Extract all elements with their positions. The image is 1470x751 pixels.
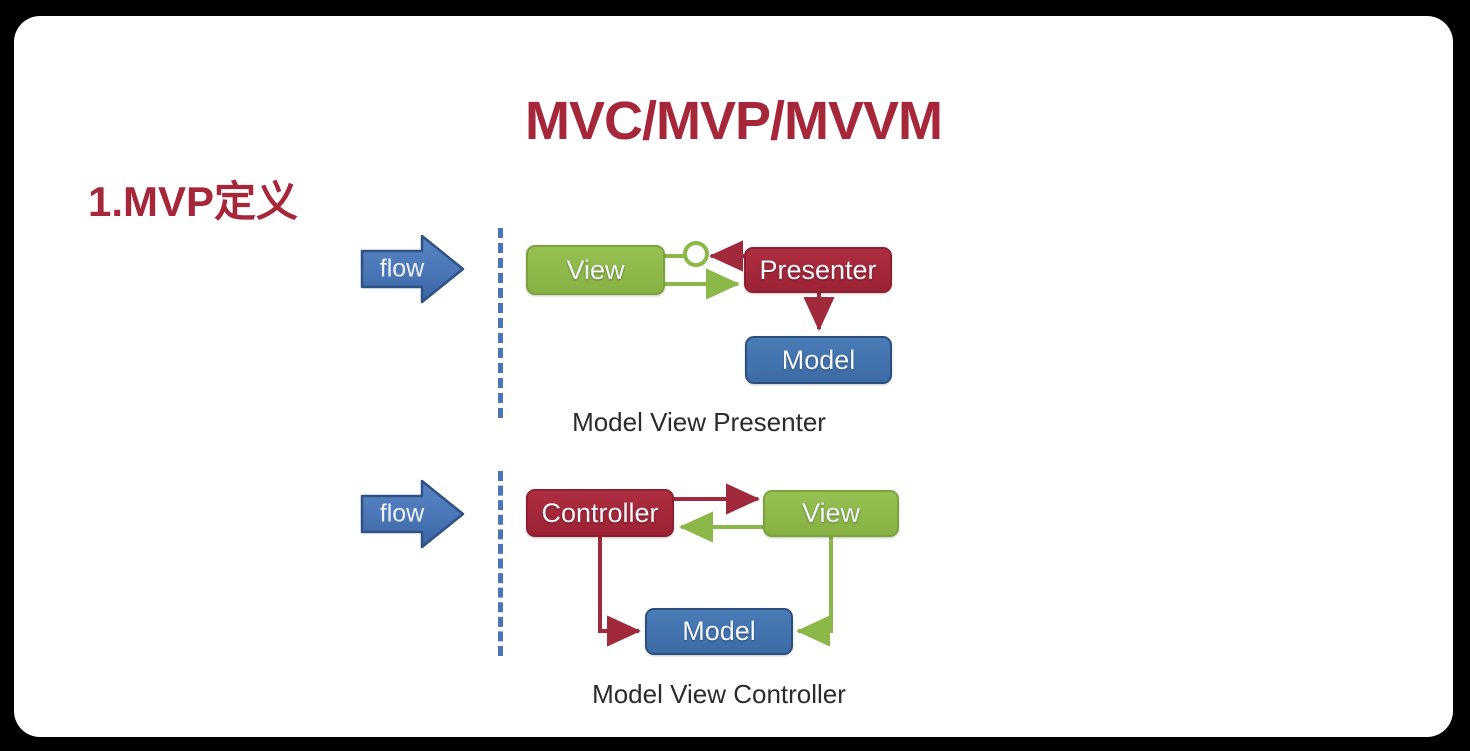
mvp-node-presenter[interactable]: Presenter xyxy=(744,247,892,293)
mvc-node-model-label: Model xyxy=(682,616,756,647)
mvc-node-controller-label: Controller xyxy=(541,498,658,529)
dashed-divider-mvc xyxy=(498,471,503,656)
mvp-node-view[interactable]: View xyxy=(526,245,665,295)
flow-arrow-shape xyxy=(360,232,466,306)
mvc-node-view-label: View xyxy=(802,498,860,529)
flow-arrow-mvp: flow xyxy=(360,232,466,306)
mvc-node-view[interactable]: View xyxy=(763,490,899,537)
flow-arrow-shape xyxy=(360,477,466,551)
mvp-node-model[interactable]: Model xyxy=(745,336,892,384)
dashed-divider-mvp xyxy=(498,228,503,418)
flow-arrow-mvc: flow xyxy=(360,477,466,551)
mvp-node-view-label: View xyxy=(566,255,624,286)
mvp-node-presenter-label: Presenter xyxy=(759,255,876,286)
mvp-node-model-label: Model xyxy=(782,345,856,376)
slide-root: MVC/MVP/MVVM 1.MVP定义 flow xyxy=(0,0,1470,751)
mvc-node-model[interactable]: Model xyxy=(645,608,793,655)
mvp-caption: Model View Presenter xyxy=(474,407,924,438)
slide-panel: MVC/MVP/MVVM 1.MVP定义 flow xyxy=(14,16,1453,737)
slide-title: MVC/MVP/MVVM xyxy=(14,90,1453,152)
mvc-node-controller[interactable]: Controller xyxy=(526,489,674,537)
section-heading: 1.MVP定义 xyxy=(88,176,298,228)
mvc-caption: Model View Controller xyxy=(494,679,944,710)
